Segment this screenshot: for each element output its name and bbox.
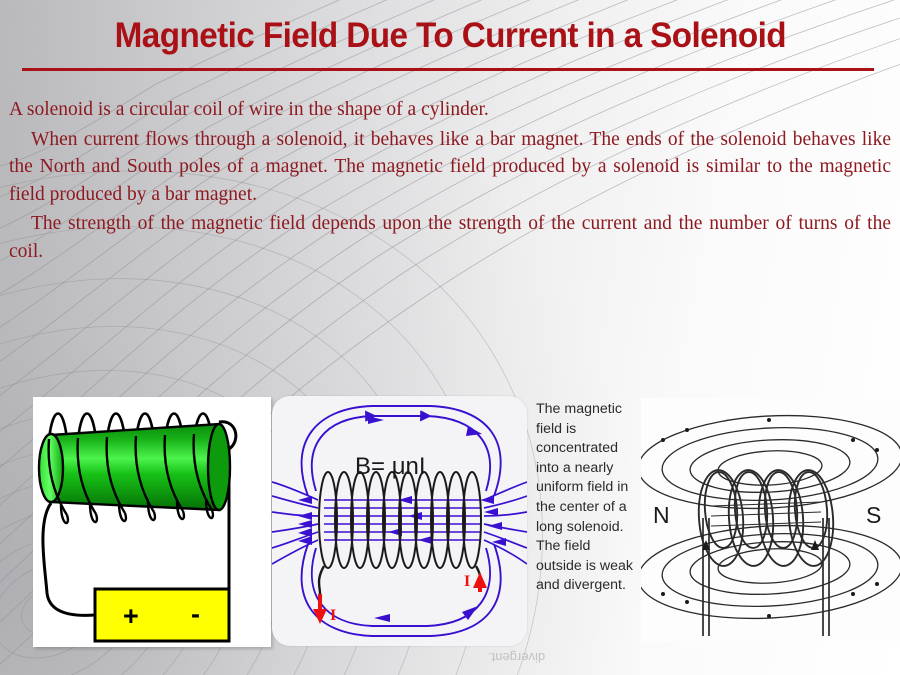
battery-body xyxy=(95,589,229,641)
solenoid-battery-drawing: + - xyxy=(33,397,271,647)
paragraph-definition: A solenoid is a circular coil of wire in… xyxy=(9,96,891,124)
current-label-left: I xyxy=(330,607,336,624)
figure-solenoid-battery: + - xyxy=(33,397,271,647)
current-label-right: I xyxy=(464,573,470,590)
current-arrow-left xyxy=(313,594,327,624)
slide-canvas: Magnetic Field Due To Current in a Solen… xyxy=(0,0,900,675)
formula-label: B= μnI xyxy=(355,453,426,480)
south-pole-label: S xyxy=(866,502,881,528)
figure-field-lines: B= μnI I I xyxy=(272,396,527,646)
figure-poles: N S xyxy=(641,398,900,641)
paragraph-behaviour: When current flows through a solenoid, i… xyxy=(9,126,891,209)
title-underline-rule xyxy=(22,68,874,71)
battery-plus-label: + xyxy=(123,601,139,631)
paragraph-strength: The strength of the magnetic field depen… xyxy=(9,210,891,265)
field-lines-drawing: B= μnI I I xyxy=(272,396,527,646)
poles-drawing: N S xyxy=(641,398,900,641)
body-text-block: A solenoid is a circular coil of wire in… xyxy=(9,96,891,265)
north-pole-label: N xyxy=(653,502,670,528)
page-title: Magnetic Field Due To Current in a Solen… xyxy=(114,18,785,59)
battery-minus-label: - xyxy=(191,599,200,629)
figure-row: + - xyxy=(0,390,900,675)
current-arrow-right xyxy=(473,572,487,592)
figure-caption: The magnetic field is concentrated into … xyxy=(536,400,640,596)
page-title-container: Magnetic Field Due To Current in a Solen… xyxy=(0,18,900,59)
watermark-text: divergent. xyxy=(488,650,545,665)
